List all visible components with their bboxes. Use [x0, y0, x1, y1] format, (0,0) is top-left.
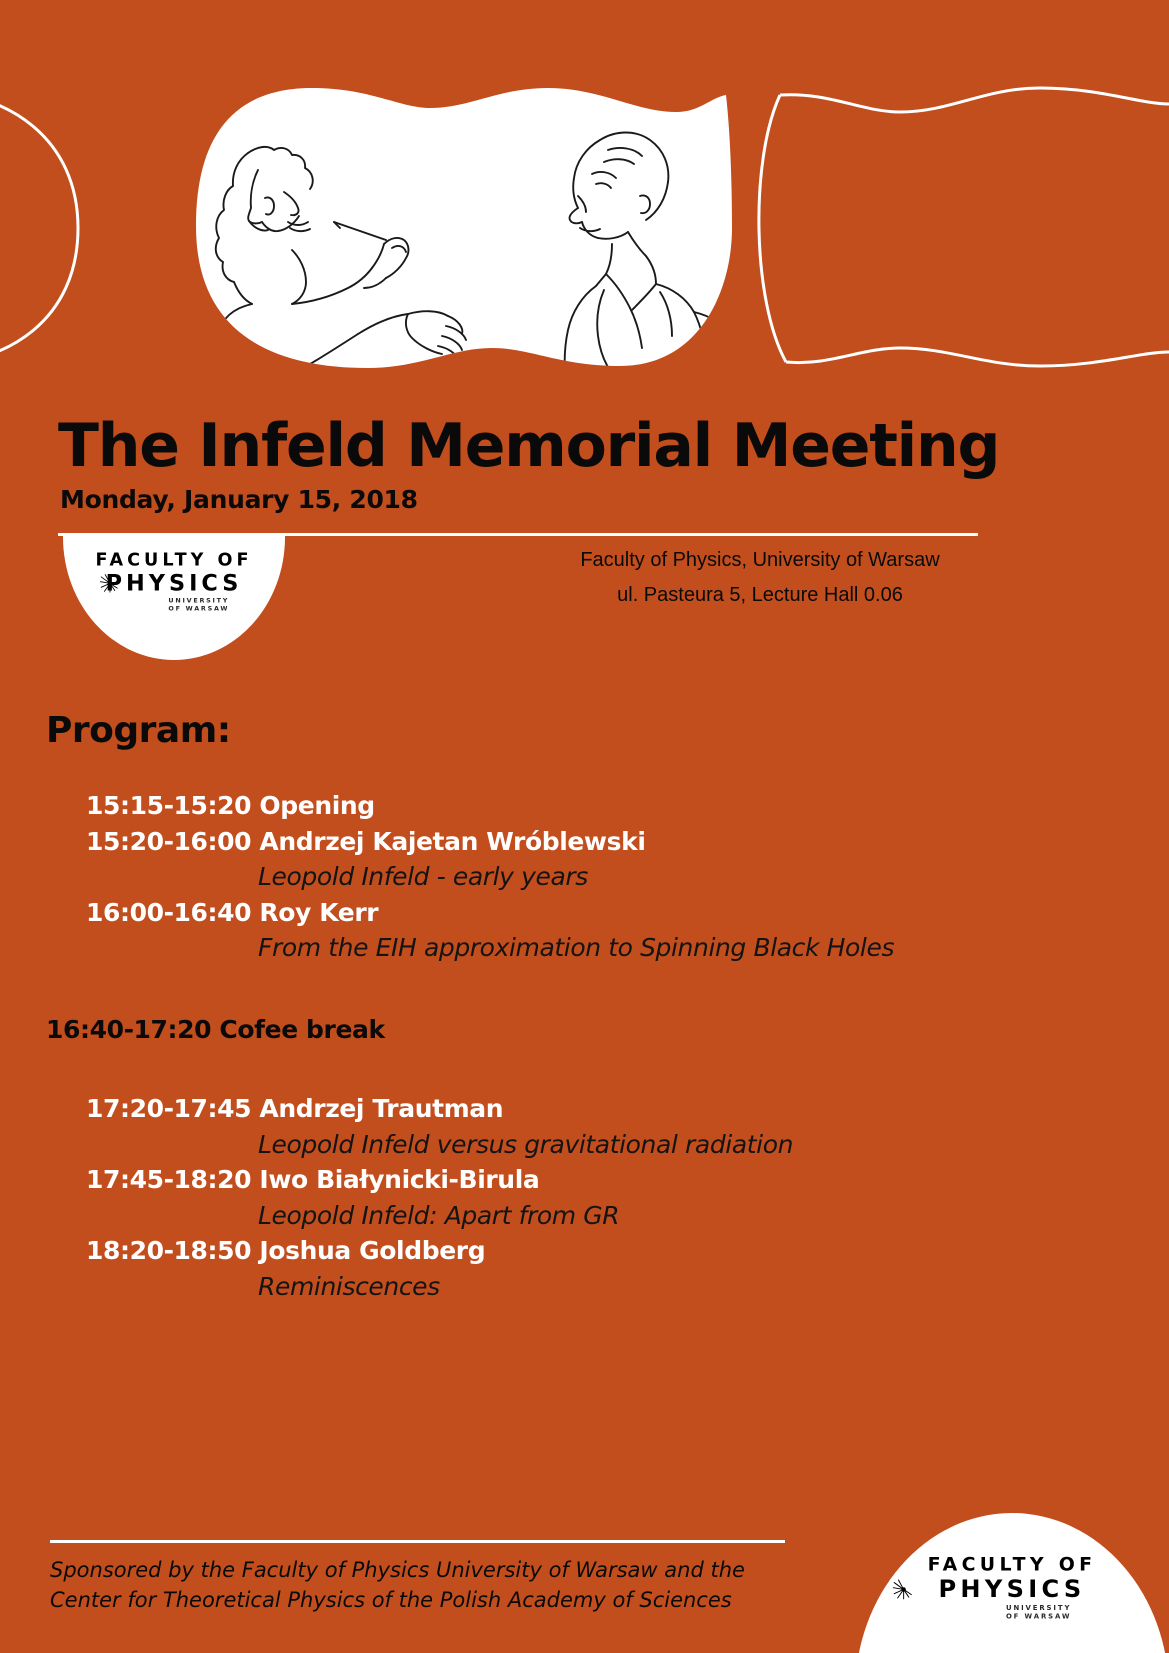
program-slot: 15:20-16:00 Andrzej Kajetan Wróblewski	[86, 824, 1126, 860]
program-slot: 17:45-18:20 Iwo Białynicki-Birula	[86, 1162, 1126, 1198]
program-item: 17:20-17:45 Andrzej Trautman Leopold Inf…	[46, 1091, 1126, 1162]
venue-line-2: ul. Pasteura 5, Lecture Hall 0.06	[480, 578, 1040, 613]
footer-divider	[50, 1540, 785, 1543]
logo-line-faculty-of: FACULTY OF	[877, 1556, 1147, 1575]
program-item: 15:15-15:20 Opening	[46, 788, 1126, 824]
title-block: The Infeld Memorial Meeting Monday, Janu…	[58, 415, 1058, 514]
venue-info: Faculty of Physics, University of Warsaw…	[480, 543, 1040, 613]
program-item: 16:00-16:40 Roy Kerr From the EIH approx…	[46, 895, 1126, 966]
program-item: 17:45-18:20 Iwo Białynicki-Birula Leopol…	[46, 1162, 1126, 1233]
program-list: 15:15-15:20 Opening 15:20-16:00 Andrzej …	[46, 788, 1126, 1304]
illustration-figure-seated	[553, 133, 732, 401]
logo-line-faculty-of: FACULTY OF	[85, 552, 263, 570]
program-talk-title: Reminiscences	[258, 1269, 1126, 1305]
header-illustration	[0, 0, 1169, 400]
program-slot: 16:00-16:40 Roy Kerr	[86, 895, 1126, 931]
program-item: 15:20-16:00 Andrzej Kajetan Wróblewski L…	[46, 824, 1126, 895]
program-slot: 18:20-18:50 Joshua Goldberg	[86, 1233, 1126, 1269]
program-slot: 15:15-15:20 Opening	[86, 788, 1126, 824]
illustration-blob-background	[196, 88, 732, 368]
logo-line-physics: PHYSICS	[85, 571, 263, 595]
faculty-logo-footer: FACULTY OF PHYSICS	[855, 1513, 1169, 1653]
program-talk-title: Leopold Infeld - early years	[258, 859, 1126, 895]
sponsor-line-2: Center for Theoretical Physics of the Po…	[50, 1586, 810, 1616]
program-heading: Program:	[46, 710, 231, 751]
program-item: 18:20-18:50 Joshua Goldberg Reminiscence…	[46, 1233, 1126, 1304]
deco-outline-right-left	[759, 95, 786, 362]
venue-line-1: Faculty of Physics, University of Warsaw	[480, 543, 1040, 578]
program-talk-title: Leopold Infeld versus gravitational radi…	[258, 1127, 1126, 1163]
deco-outline-left	[0, 90, 78, 366]
spacer	[46, 1047, 1126, 1091]
illustration-figures	[213, 147, 466, 400]
deco-outline-right-top	[780, 88, 1169, 112]
spacer	[46, 966, 1126, 1012]
program-talk-title: From the EIH approximation to Spinning B…	[258, 930, 1126, 966]
page-title: The Infeld Memorial Meeting	[58, 415, 1058, 477]
starburst-icon	[892, 1579, 914, 1600]
program-slot: 17:20-17:45 Andrzej Trautman	[86, 1091, 1126, 1127]
event-date: Monday, January 15, 2018	[60, 485, 1058, 514]
sponsor-note: Sponsored by the Faculty of Physics Univ…	[50, 1556, 810, 1616]
deco-outline-right-bottom	[786, 348, 1169, 366]
decorative-blob-band	[0, 0, 1169, 400]
logo-line-physics: PHYSICS	[877, 1577, 1147, 1602]
starburst-icon	[100, 574, 121, 593]
faculty-logo-header: FACULTY OF PHYSICS	[63, 536, 285, 660]
program-break-slot: 16:40-17:20 Cofee break	[46, 1012, 1126, 1048]
program-break: 16:40-17:20 Cofee break	[46, 1012, 1126, 1048]
logo-line-university: UNIVERSITY OF WARSAW	[930, 1604, 1147, 1621]
sponsor-line-1: Sponsored by the Faculty of Physics Univ…	[50, 1556, 810, 1586]
logo-line-university: UNIVERSITY OF WARSAW	[135, 597, 263, 613]
poster-root: The Infeld Memorial Meeting Monday, Janu…	[0, 0, 1169, 1653]
program-talk-title: Leopold Infeld: Apart from GR	[258, 1198, 1126, 1234]
